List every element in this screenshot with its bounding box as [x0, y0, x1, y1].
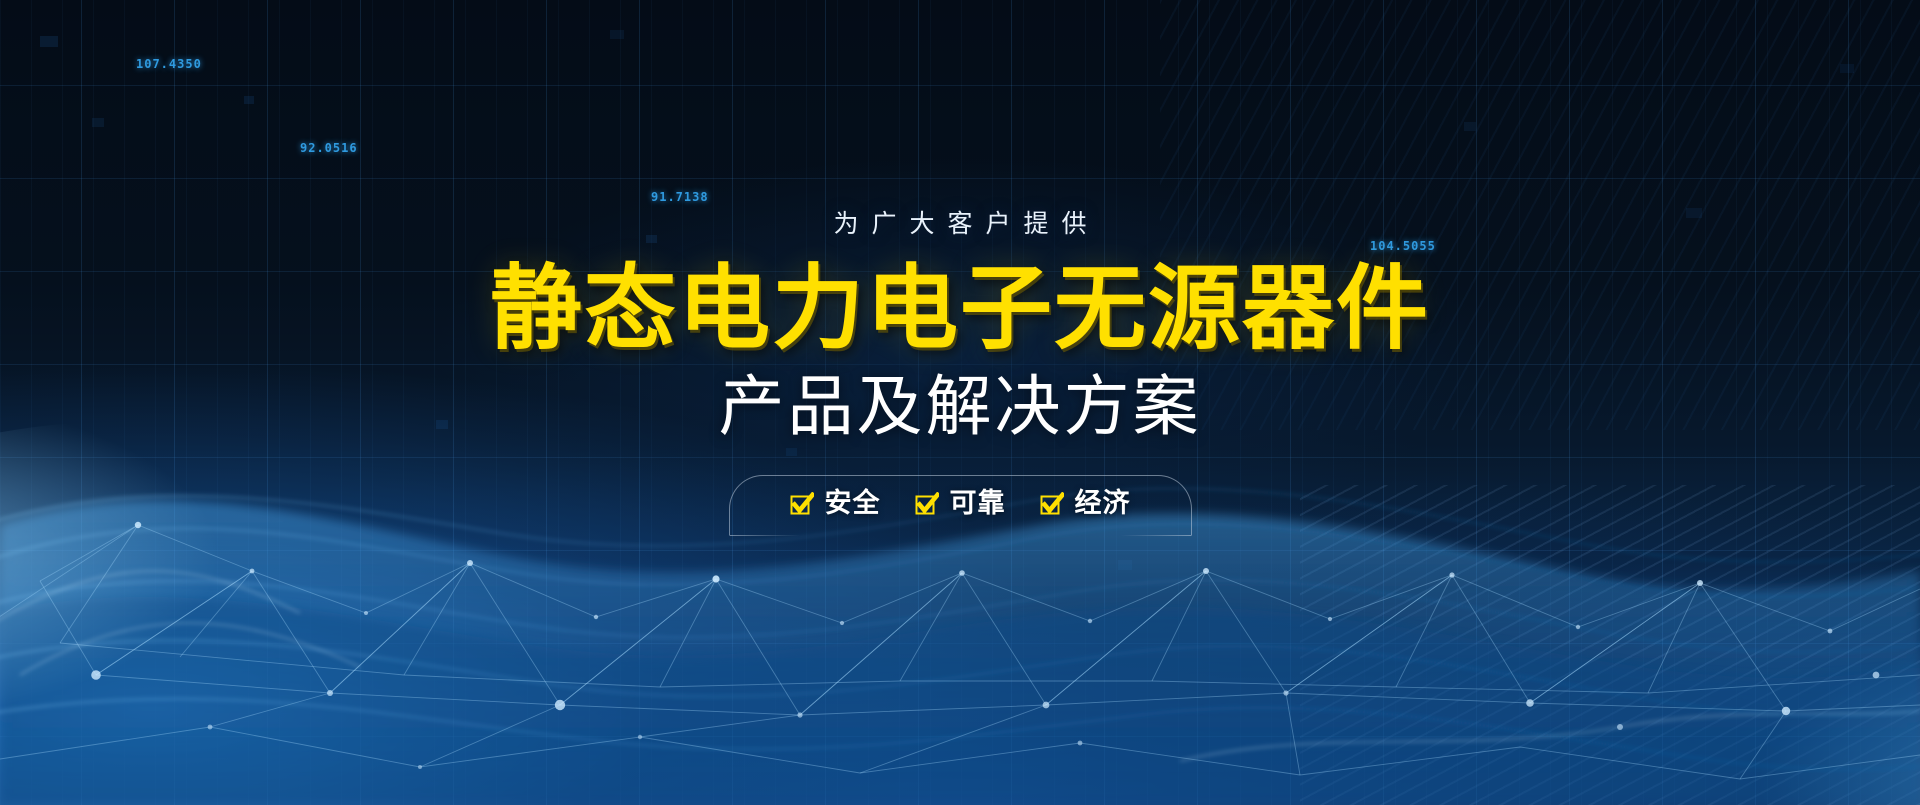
- banner-eyebrow: 为广大客户提供: [0, 212, 1920, 237]
- decor-chip: [92, 118, 104, 127]
- banner-subheadline: 产品及解决方案: [0, 373, 1920, 439]
- feature-frame: 安全 可靠 经济: [729, 475, 1192, 536]
- checkbox-checked-icon: [915, 492, 939, 516]
- hud-readout: 91.7138: [651, 190, 709, 204]
- decor-chip: [1840, 64, 1854, 73]
- decor-chip: [1464, 122, 1476, 131]
- feature-item-safety: 安全: [790, 490, 881, 517]
- decor-chip: [40, 36, 58, 47]
- checkbox-checked-icon: [790, 492, 814, 516]
- decor-chip: [610, 30, 624, 39]
- banner-content: 为广大客户提供 静态电力电子无源器件 产品及解决方案 安全 可靠: [0, 212, 1920, 536]
- hero-banner: 107.4350 92.0516 91.7138 104.5055 为广大客户提…: [0, 0, 1920, 805]
- feature-label: 经济: [1075, 490, 1131, 517]
- feature-frame-wrap: 安全 可靠 经济: [0, 475, 1920, 536]
- hud-readout: 92.0516: [300, 141, 358, 155]
- banner-headline: 静态电力电子无源器件: [0, 263, 1920, 355]
- hud-readout: 107.4350: [136, 57, 202, 71]
- checkbox-checked-icon: [1040, 492, 1064, 516]
- decor-chip: [244, 96, 254, 104]
- feature-label: 可靠: [950, 490, 1006, 517]
- feature-item-reliability: 可靠: [915, 490, 1006, 517]
- feature-label: 安全: [825, 490, 881, 517]
- feature-item-economy: 经济: [1040, 490, 1131, 517]
